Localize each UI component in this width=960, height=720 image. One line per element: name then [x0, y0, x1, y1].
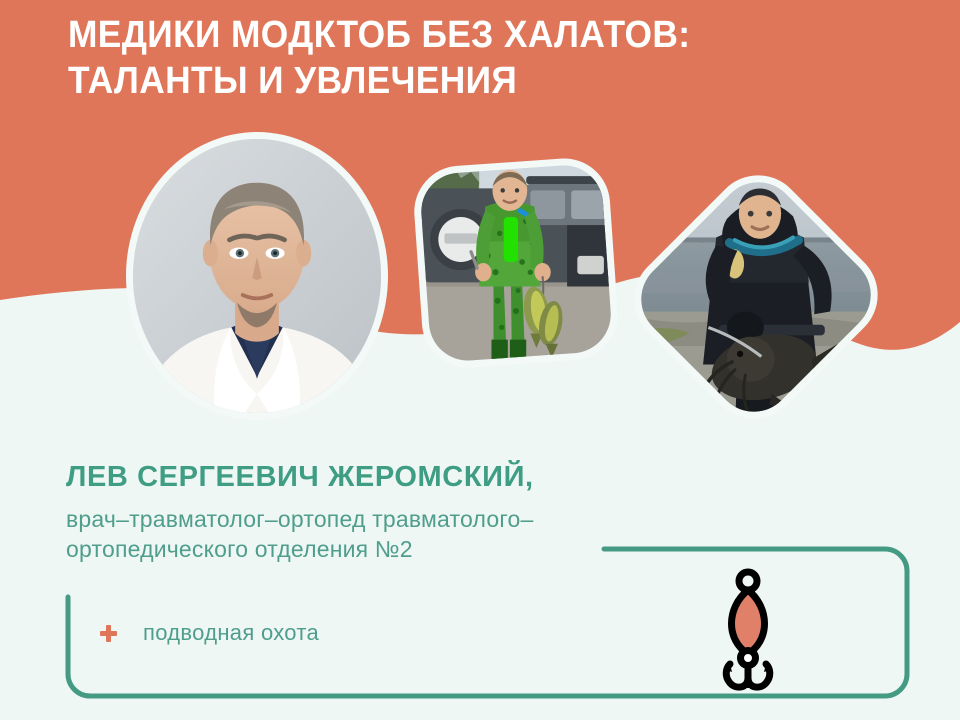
hobby-label: подводная охота — [143, 620, 319, 646]
spearfisher-car-image — [414, 158, 618, 369]
person-name: ЛЕВ СЕРГЕЕВИЧ ЖЕРОМСКИЙ, — [66, 460, 534, 494]
person-role: врач–травматолог–ортопед травматолого– о… — [66, 504, 766, 564]
poster-canvas: МЕДИКИ МОДКТОБ БЕЗ ХАЛАТОВ: ТАЛАНТЫ И УВ… — [0, 0, 960, 720]
title-line-1: МЕДИКИ МОДКТОБ БЕЗ ХАЛАТОВ: — [68, 12, 868, 58]
fishing-lure-icon — [700, 568, 796, 692]
hobby-item: подводная охота — [100, 620, 319, 646]
plus-icon — [100, 625, 117, 642]
photo-spearfisher-with-catch-by-car — [411, 155, 621, 370]
page-title: МЕДИКИ МОДКТОБ БЕЗ ХАЛАТОВ: ТАЛАНТЫ И УВ… — [68, 12, 928, 104]
photo-portrait-doctor-white-coat — [126, 132, 388, 420]
title-line-2: ТАЛАНТЫ И УВЛЕЧЕНИЯ — [68, 58, 868, 104]
portrait-image — [133, 139, 381, 413]
